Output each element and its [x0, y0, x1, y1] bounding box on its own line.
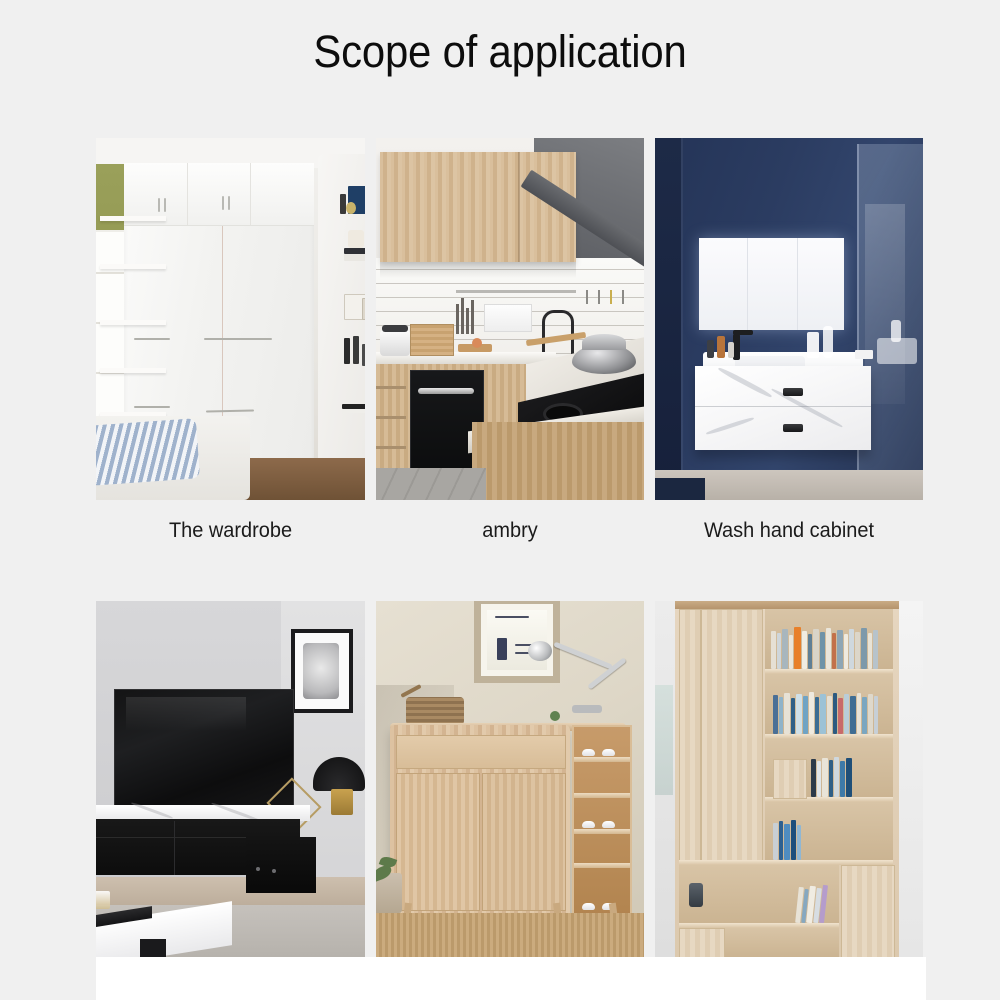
- gallery-row-1: The wardrobe: [96, 138, 926, 562]
- bookcase-photo: [655, 601, 923, 957]
- gallery-caption: Wash hand cabinet: [662, 500, 917, 562]
- gallery-item-shoe-ark[interactable]: Shoe ark: [376, 601, 644, 1000]
- application-gallery: The wardrobe: [96, 138, 926, 1000]
- gallery-item-wash-hand-cabinet[interactable]: Wash hand cabinet: [655, 138, 923, 562]
- gallery-row-2: TV cabinet: [96, 601, 926, 1000]
- gallery-item-wardrobe[interactable]: The wardrobe: [96, 138, 365, 562]
- gallery-caption: The wardrobe: [103, 500, 359, 562]
- gallery-item-ambry[interactable]: ambry: [376, 138, 644, 562]
- kitchen-cabinet-photo: [376, 138, 644, 500]
- gallery-item-tv-cabinet[interactable]: TV cabinet: [96, 601, 365, 1000]
- bottom-caption-band: [96, 957, 926, 1000]
- tv-cabinet-photo: [96, 601, 365, 957]
- gallery-caption: ambry: [383, 500, 638, 562]
- gallery-item-bookcase[interactable]: The bookcase: [655, 601, 923, 1000]
- shoe-cabinet-photo: [376, 601, 644, 957]
- wardrobe-photo: [96, 138, 365, 500]
- wash-hand-cabinet-photo: [655, 138, 923, 500]
- page-root: Scope of application: [0, 0, 1000, 1000]
- page-title: Scope of application: [35, 26, 965, 78]
